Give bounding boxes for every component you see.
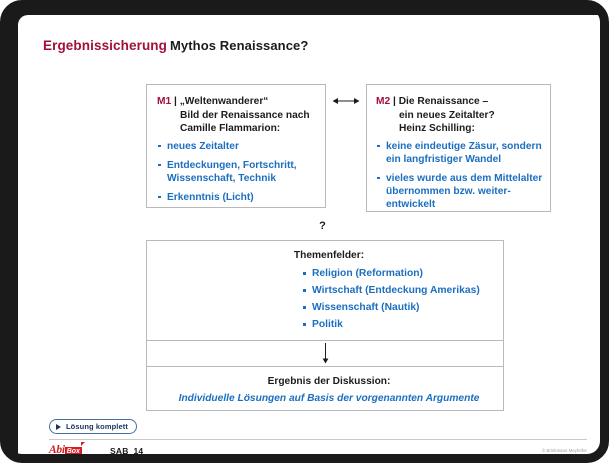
ergebnis-section: Ergebnis der Diskussion: Individuelle Lö…: [147, 367, 503, 410]
m1-bullet-1: Entdeckungen, Fortschritt, Wissenschaft,…: [157, 159, 317, 185]
footer-credit-text: © Brinkmann Meyhöfer: [542, 448, 587, 453]
ergebnis-text: Individuelle Lösungen auf Basis der vorg…: [147, 393, 503, 404]
m1-subtitle-line-2: Camille Flammarion:: [157, 122, 317, 136]
loesung-komplett-label: Lösung komplett: [66, 422, 128, 431]
ergebnis-heading: Ergebnis der Diskussion:: [147, 376, 503, 387]
discussion-box: Themenfelder: Religion (Reformation) Wir…: [146, 240, 504, 411]
loesung-komplett-button[interactable]: Lösung komplett: [49, 419, 137, 434]
source-box-m1: M1 | „Weltenwanderer“ Bild der Renaissan…: [146, 84, 326, 208]
m2-subtitle-line-1: Heinz Schilling:: [376, 122, 543, 136]
double-headed-arrow-icon: [332, 94, 360, 106]
m2-bullet-0: keine eindeutige Zäsur, sondern ein lang…: [376, 140, 543, 166]
question-mark-connector: ?: [18, 220, 609, 232]
m2-separator: |: [393, 96, 396, 107]
slide-canvas: ErgebnissicherungMythos Renaissance? M1 …: [18, 15, 609, 458]
m1-title: „Weltenwanderer“: [180, 96, 269, 107]
logo-flag-icon: [81, 442, 85, 446]
m2-title-part-1: Die Renaissance –: [399, 96, 488, 107]
slide-outer-frame: ErgebnissicherungMythos Renaissance? M1 …: [0, 0, 609, 463]
m2-code: M2: [376, 96, 390, 107]
m2-bullet-1: vieles wurde aus dem Mittelalter übernom…: [376, 172, 543, 211]
footer-divider: [49, 439, 587, 440]
source-box-m2: M2 | Die Renaissance – ein neues Zeitalt…: [366, 84, 551, 212]
arrow-spacer-section: [147, 341, 503, 367]
themenfelder-list: Religion (Reformation) Wirtschaft (Entde…: [147, 267, 503, 331]
themenfeld-3: Politik: [302, 318, 503, 331]
logo-abi-text: Abi: [49, 444, 65, 456]
themenfeld-0: Religion (Reformation): [302, 267, 503, 280]
m1-bullet-0: neues Zeitalter: [157, 140, 317, 153]
m1-bullet-list: neues Zeitalter Entdeckungen, Fortschrit…: [157, 140, 317, 204]
footer-slide-code: SAB_14: [110, 446, 143, 456]
themenfelder-heading: Themenfelder:: [147, 250, 503, 261]
footer-bar: Abi Box SAB_14 © Brinkmann Meyhöfer: [49, 444, 587, 458]
abibox-logo: Abi Box: [49, 444, 86, 456]
m1-subtitle-line-1: Bild der Renaissance nach: [157, 109, 317, 123]
themenfelder-section: Themenfelder: Religion (Reformation) Wir…: [147, 241, 503, 341]
down-arrow-icon: [321, 343, 330, 364]
page-title: ErgebnissicherungMythos Renaissance?: [43, 37, 308, 55]
m1-separator: |: [174, 96, 177, 107]
page-title-main: Mythos Renaissance?: [170, 38, 308, 53]
themenfeld-2: Wissenschaft (Nautik): [302, 301, 503, 314]
themenfeld-1: Wirtschaft (Entdeckung Amerikas): [302, 284, 503, 297]
m1-code: M1: [157, 96, 171, 107]
m1-title-line: M1 | „Weltenwanderer“: [157, 95, 317, 109]
page-title-accent: Ergebnissicherung: [43, 38, 167, 53]
logo-box-text: Box: [65, 447, 82, 456]
m1-bullet-2: Erkenntnis (Licht): [157, 191, 317, 204]
m2-title-line-2: ein neues Zeitalter?: [376, 109, 543, 123]
m2-bullet-list: keine eindeutige Zäsur, sondern ein lang…: [376, 140, 543, 211]
m2-title-line-1: M2 | Die Renaissance –: [376, 95, 543, 109]
play-triangle-icon: [56, 424, 61, 430]
